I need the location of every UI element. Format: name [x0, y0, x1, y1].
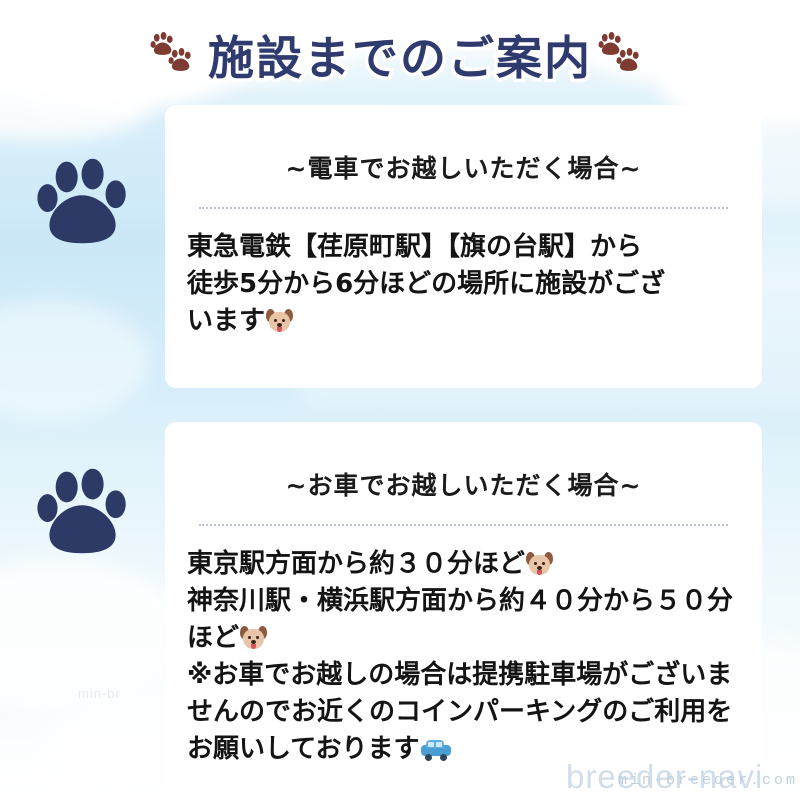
car-access-card: ~お車でお越しいただく場合~ 東京駅方面から約３０分ほど 神奈川駅・横浜駅方面か… [165, 422, 762, 800]
train-access-heading: ~電車でお越しいただく場合~ [187, 105, 740, 185]
car-paragraph-1-text: 東京駅方面から約３０分ほど [187, 549, 525, 579]
train-body-line-3: います [187, 306, 265, 336]
paw-print-icon [616, 47, 642, 73]
train-body-line-1: 東急電鉄【荏原町駅】【旗の台駅】から [187, 232, 642, 262]
watermark-faint: min-br [78, 686, 121, 701]
page-title: 施設までのご案内 [208, 22, 592, 88]
paw-print-icon [35, 152, 131, 248]
car-paragraph-3-text: ※お車でお越しの場合は提携駐車場がございませんのでお近くのコインパーキングのご利… [187, 660, 732, 764]
title-paw-left [150, 29, 202, 81]
train-access-card: ~電車でお越しいただく場合~ 東急電鉄【荏原町駅】【旗の台駅】から 徒歩5分から… [165, 105, 762, 388]
cloud-shape [0, 300, 150, 420]
train-access-body: 東急電鉄【荏原町駅】【旗の台駅】から 徒歩5分から6分ほどの場所に施設がござ い… [187, 209, 740, 340]
cloud-shape [0, 560, 190, 710]
car-body-paragraph-3: ※お車でお越しの場合は提携駐車場がございませんのでお近くのコインパーキングのご利… [187, 657, 740, 768]
page-title-row: 施設までのご案内 [0, 18, 800, 92]
car-access-heading: ~お車でお越しいただく場合~ [187, 422, 740, 502]
card-divider [199, 207, 728, 209]
paw-print-icon [35, 462, 131, 558]
page-root: 施設までのご案内 [0, 0, 800, 800]
dog-face-icon [240, 626, 267, 651]
car-icon [421, 739, 451, 761]
dog-face-icon [266, 309, 293, 334]
paw-print-icon [168, 47, 194, 73]
car-access-body: 東京駅方面から約３０分ほど 神奈川駅・横浜駅方面から約４０分から５０分ほど ※お… [187, 526, 740, 767]
title-paw-right [598, 29, 650, 81]
car-body-paragraph-1: 東京駅方面から約３０分ほど [187, 546, 740, 583]
train-body-line-2: 徒歩5分から6分ほどの場所に施設がござ [187, 269, 665, 299]
card-divider [199, 524, 728, 526]
car-paragraph-2-text: 神奈川駅・横浜駅方面から約４０分から５０分ほど [187, 586, 733, 653]
dog-face-icon [526, 552, 553, 577]
car-body-paragraph-2: 神奈川駅・横浜駅方面から約４０分から５０分ほど [187, 583, 740, 657]
